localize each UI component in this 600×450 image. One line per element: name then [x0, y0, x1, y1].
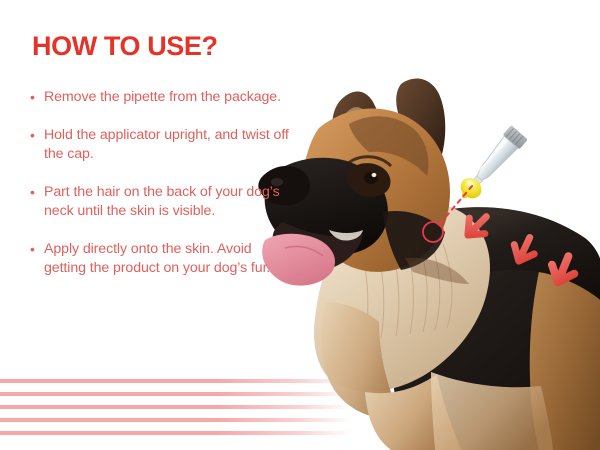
- application-spot-target: [414, 182, 484, 246]
- bullet-icon: •: [30, 126, 44, 145]
- instruction-list: • Remove the pipette from the package. •…: [30, 88, 292, 297]
- direction-arrow-1: [455, 208, 495, 248]
- list-item-text: Hold the applicator upright, and twist o…: [44, 126, 292, 164]
- how-to-use-infographic: HOW TO USE? • Remove the pipette from th…: [0, 0, 600, 450]
- list-item: • Part the hair on the back of your dog’…: [30, 183, 292, 221]
- bullet-icon: •: [30, 240, 44, 259]
- list-item: • Hold the applicator upright, and twist…: [30, 126, 292, 164]
- direction-arrow-3: [540, 250, 584, 294]
- direction-arrow-2: [503, 232, 543, 272]
- page-title: HOW TO USE?: [32, 32, 218, 60]
- list-item: • Apply directly onto the skin. Avoid ge…: [30, 240, 292, 278]
- pipette-applicator: [452, 118, 532, 210]
- list-item-text: Remove the pipette from the package.: [44, 88, 292, 107]
- list-item-text: Part the hair on the back of your dog’s …: [44, 183, 292, 221]
- german-shepherd-photo: [255, 72, 600, 450]
- decorative-stripes: [0, 379, 352, 437]
- list-item-text: Apply directly onto the skin. Avoid gett…: [44, 240, 292, 278]
- list-item: • Remove the pipette from the package.: [30, 88, 292, 107]
- bullet-icon: •: [30, 88, 44, 107]
- bullet-icon: •: [30, 183, 44, 202]
